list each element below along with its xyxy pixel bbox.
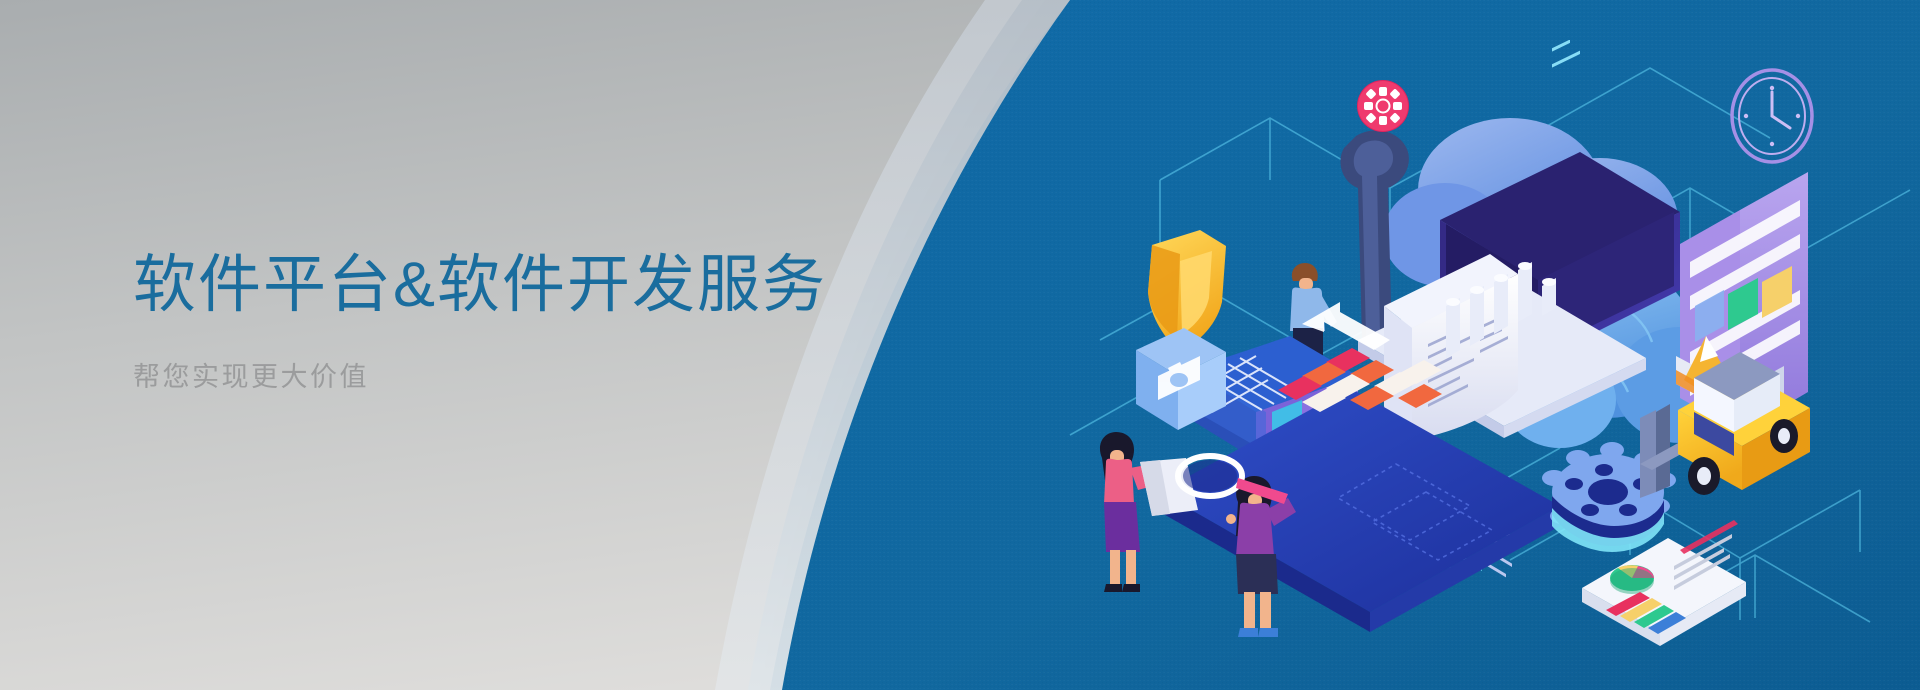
clock-icon [1732, 70, 1812, 162]
hero-text-block: 软件平台&软件开发服务 帮您实现更大价值 [133, 250, 893, 393]
pie-chart-icon [1610, 565, 1654, 594]
page-title: 软件平台&软件开发服务 [133, 250, 893, 321]
hero-banner: 软件平台&软件开发服务 帮您实现更大价值 [0, 0, 1920, 690]
page-subtitle: 帮您实现更大价值 [133, 321, 893, 393]
isometric-software-platform-illustration [1040, 40, 1920, 690]
